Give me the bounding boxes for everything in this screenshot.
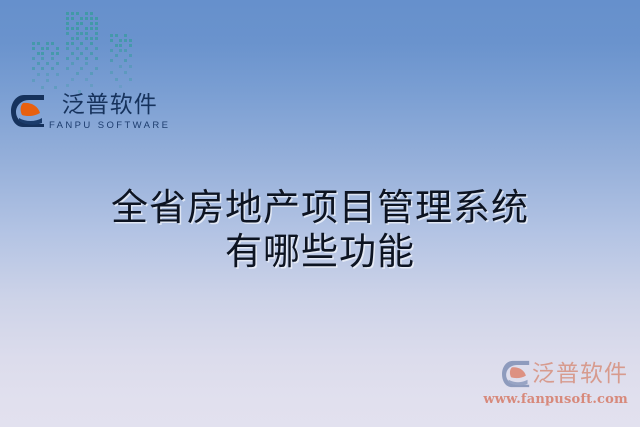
page-title-line-2: 有哪些功能 [0,230,640,274]
promo-banner: 泛普软件 FANPU SOFTWARE 全省房地产项目管理系统 有哪些功能 泛普… [0,0,640,427]
pixel-buildings-icon [28,4,146,96]
brand-text: 泛普软件 FANPU SOFTWARE [49,93,170,132]
page-title-line-1: 全省房地产项目管理系统 [0,186,640,230]
fanpu-watermark-mark-icon [502,360,530,388]
brand-logo: 泛普软件 FANPU SOFTWARE [11,93,161,143]
fanpu-logo-mark-icon [11,94,45,128]
watermark-name-cn: 泛普软件 [532,361,628,387]
watermark-url: www.fanpusoft.com [482,392,628,408]
brand-name-cn: 泛普软件 [62,93,158,118]
watermark-brand-row: 泛普软件 [482,357,628,391]
page-title: 全省房地产项目管理系统 有哪些功能 [0,186,640,274]
watermark: 泛普软件 www.fanpusoft.com [482,357,628,413]
brand-name-en: FANPU SOFTWARE [49,120,170,132]
